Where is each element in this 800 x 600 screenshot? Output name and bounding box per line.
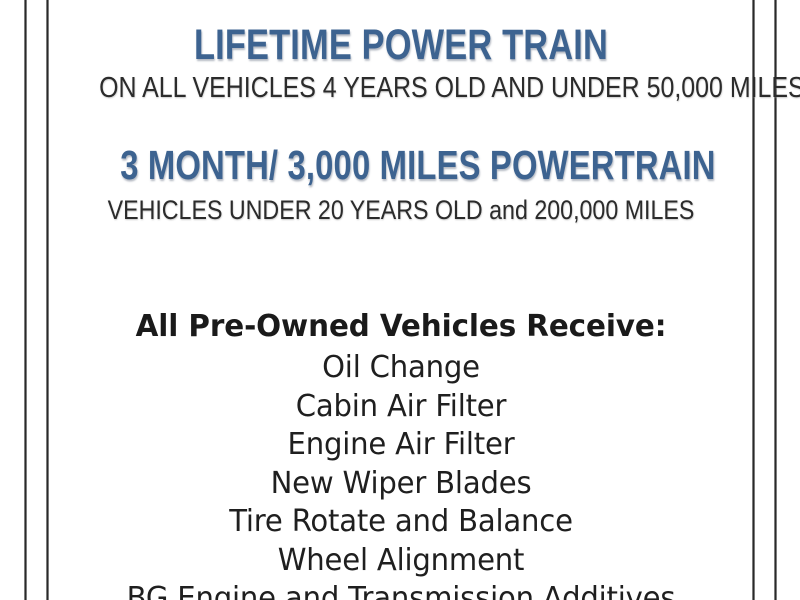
services-list: Oil Change Cabin Air Filter Engine Air F…	[50, 349, 752, 600]
list-item: Oil Change	[61, 349, 742, 388]
warranty-title-lifetime-powertrain: LIFETIME POWER TRAIN	[120, 22, 682, 68]
list-item: New Wiper Blades	[61, 465, 742, 504]
flyer-canvas: LIFETIME POWER TRAIN ON ALL VEHICLES 4 Y…	[0, 0, 800, 600]
left-inner-frame-rule	[46, 0, 49, 600]
services-section: All Pre-Owned Vehicles Receive: Oil Chan…	[50, 310, 752, 600]
warranty-block-3-month-powertrain: 3 MONTH/ 3,000 MILES POWERTRAIN VEHICLES…	[50, 142, 752, 226]
list-item: BG Engine and Transmission Additives	[61, 580, 742, 600]
warranty-subtitle-lifetime-powertrain: ON ALL VEHICLES 4 YEARS OLD AND UNDER 50…	[99, 72, 703, 104]
list-item: Cabin Air Filter	[61, 388, 742, 427]
list-item: Tire Rotate and Balance	[61, 503, 742, 542]
left-outer-frame-rule	[24, 0, 27, 600]
warranty-title-3-month-powertrain: 3 MONTH/ 3,000 MILES POWERTRAIN	[120, 142, 682, 188]
list-item: Engine Air Filter	[61, 426, 742, 465]
warranty-block-lifetime-powertrain: LIFETIME POWER TRAIN ON ALL VEHICLES 4 Y…	[50, 22, 752, 104]
warranty-subtitle-3-month-powertrain: VEHICLES UNDER 20 YEARS OLD and 200,000 …	[99, 194, 703, 226]
flyer-content-column: LIFETIME POWER TRAIN ON ALL VEHICLES 4 Y…	[50, 0, 752, 600]
services-heading: All Pre-Owned Vehicles Receive:	[57, 310, 745, 344]
list-item: Wheel Alignment	[61, 542, 742, 581]
